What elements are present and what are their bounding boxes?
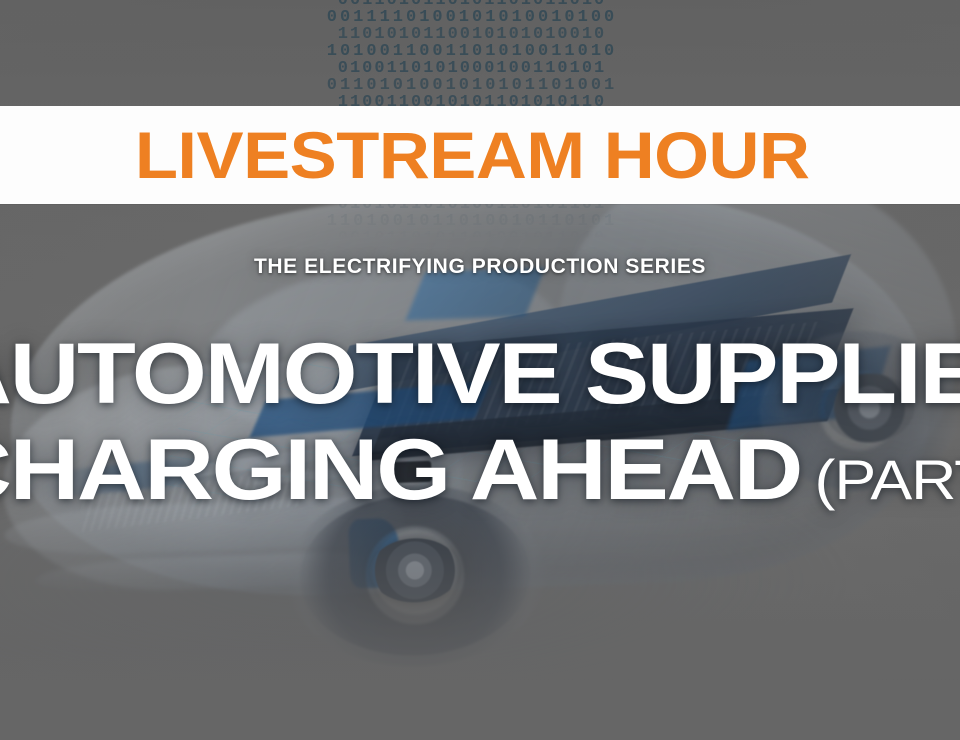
headline-line-1: AUTOMOTIVE SUPPLIERS <box>0 326 960 422</box>
banner-title: LIVESTREAM HOUR <box>0 122 809 188</box>
headline-line-2-wrap: CHARGING AHEAD(PART 1) <box>0 422 960 528</box>
livestream-promo-banner: 0011010110101101011010001111010010101001… <box>0 0 960 740</box>
series-kicker: THE ELECTRIFYING PRODUCTION SERIES <box>0 255 960 279</box>
headline-part-label: (PART 1) <box>815 448 960 511</box>
headline-block: AUTOMOTIVE SUPPLIERS CHARGING AHEAD(PART… <box>0 326 960 528</box>
headline-line-2: CHARGING AHEAD <box>0 422 801 518</box>
livestream-hour-banner: LIVESTREAM HOUR <box>0 106 960 204</box>
